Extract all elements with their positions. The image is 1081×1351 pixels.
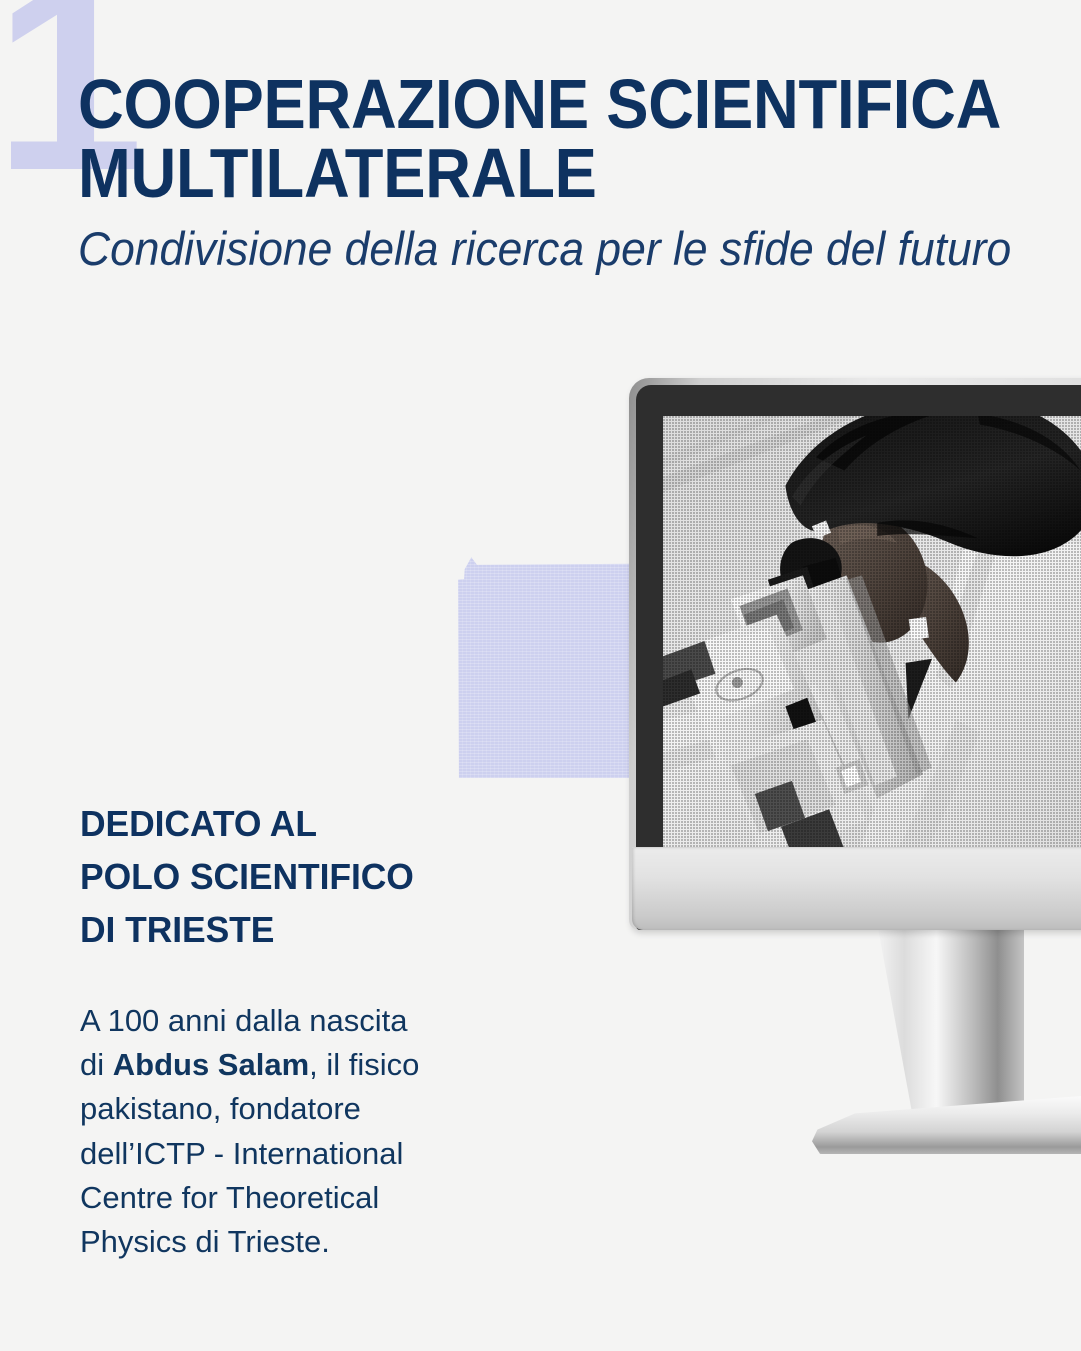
body-line-6: Physics di Trieste. — [80, 1220, 460, 1264]
emphasis-abdus-salam: Abdus Salam — [113, 1047, 309, 1082]
poster-canvas: 1 COOPERAZIONE SCIENTIFICA MULTILATERALE… — [0, 0, 1081, 1351]
body-line-2-prefix: di — [80, 1047, 113, 1082]
body-line-4: dell’ICTP - International — [80, 1132, 460, 1176]
page-subtitle: Condivisione della ricerca per le sfide … — [78, 223, 957, 275]
torn-paper-accent-shape — [458, 550, 648, 778]
desktop-monitor — [629, 378, 1081, 930]
page-title-line-1: COOPERAZIONE SCIENTIFICA — [78, 70, 920, 139]
monitor-chin — [632, 847, 1081, 930]
body-line-3: pakistano, fondatore — [80, 1087, 460, 1131]
monitor-stand-neck — [878, 928, 1024, 1118]
kicker-line-1: DEDICATO AL — [80, 798, 474, 851]
kicker-line-2: POLO SCIENTIFICO — [80, 851, 474, 904]
body-line-2-suffix: , il fisico — [309, 1047, 419, 1082]
body-line-2: di Abdus Salam, il fisico — [80, 1043, 460, 1087]
body-paragraph: A 100 anni dalla nascita di Abdus Salam,… — [80, 999, 460, 1265]
microscope-photo — [663, 416, 1081, 914]
header-block: COOPERAZIONE SCIENTIFICA MULTILATERALE C… — [78, 70, 1008, 274]
copy-block: DEDICATO AL POLO SCIENTIFICO DI TRIESTE … — [80, 798, 480, 1265]
body-line-1: A 100 anni dalla nascita — [80, 999, 460, 1043]
body-line-5: Centre for Theoretical — [80, 1176, 460, 1220]
page-title-line-2: MULTILATERALE — [78, 139, 920, 208]
monitor-screen — [663, 416, 1081, 914]
kicker-line-3: DI TRIESTE — [80, 904, 474, 957]
